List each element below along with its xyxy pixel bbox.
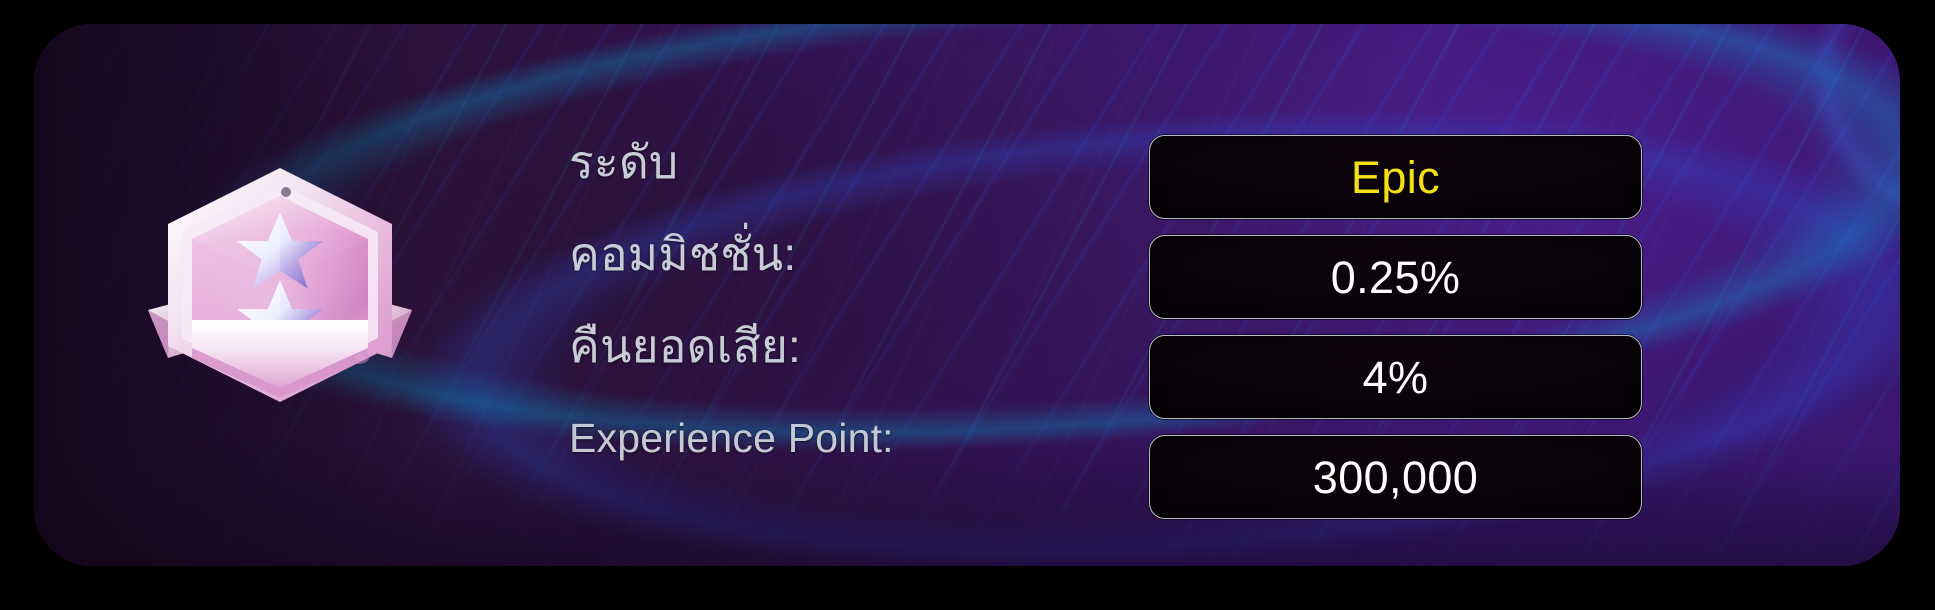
value-tier: Epic [1351, 155, 1440, 200]
attribute-value-column: Epic 0.25% 4% 300,000 [1149, 135, 1642, 519]
hex-medal-two-stars-icon [130, 162, 430, 428]
value-box-commission[interactable]: 0.25% [1149, 235, 1642, 319]
label-tier: ระดับ [569, 116, 1089, 208]
value-rakeback: 4% [1363, 355, 1429, 400]
vip-tier-card: ระดับ คอมมิชชั่น: คืนยอดเสีย: Experience… [34, 24, 1900, 566]
label-rakeback: คืนยอดเสีย: [569, 300, 1089, 392]
value-experience-point: 300,000 [1313, 455, 1478, 500]
attribute-label-column: ระดับ คอมมิชชั่น: คืนยอดเสีย: Experience… [569, 116, 1089, 536]
screenshot-stage: ระดับ คอมมิชชั่น: คืนยอดเสีย: Experience… [0, 0, 1935, 610]
value-box-experience-point[interactable]: 300,000 [1149, 435, 1642, 519]
label-experience-point: Experience Point: [569, 392, 1089, 484]
value-box-rakeback[interactable]: 4% [1149, 335, 1642, 419]
value-box-tier[interactable]: Epic [1149, 135, 1642, 219]
label-commission: คอมมิชชั่น: [569, 208, 1089, 300]
value-commission: 0.25% [1331, 255, 1461, 300]
